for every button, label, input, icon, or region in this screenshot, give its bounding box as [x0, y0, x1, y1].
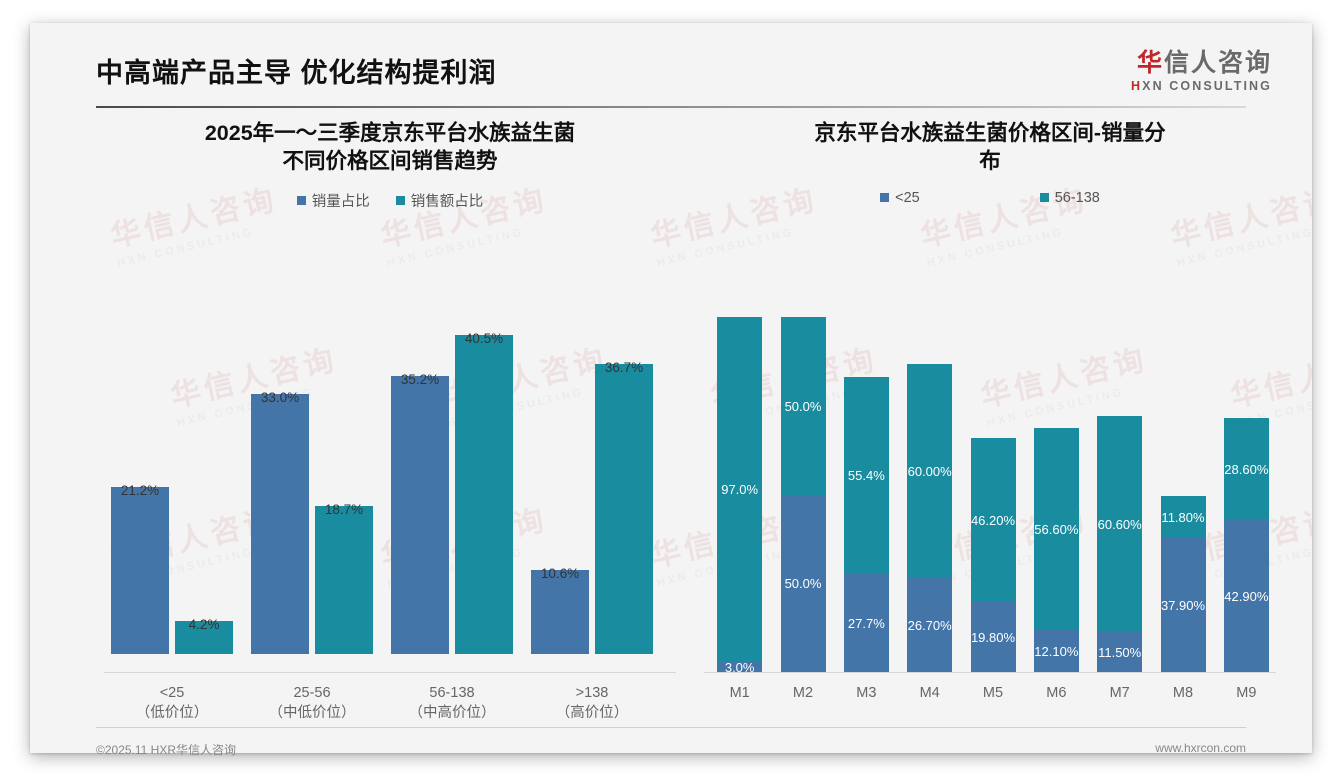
legend-swatch-blue [880, 193, 889, 202]
chart-right-title: 京东平台水族益生菌价格区间-销量分 布 [690, 119, 1290, 176]
logo-english-red: H [1131, 79, 1142, 93]
legend-item-sales-volume[interactable]: 销量占比 [297, 190, 370, 211]
bar-left->138-销售额占比[interactable] [595, 364, 653, 654]
x-tick-<25: <25（低价位） [102, 684, 242, 723]
stack-segment-label: 11.80% [1161, 510, 1204, 525]
chart-right-price-distribution: 京东平台水族益生菌价格区间-销量分 布 <25 56-138 3.0%97.0%… [690, 119, 1290, 689]
x-tick->138: >138（高价位） [522, 684, 662, 723]
legend-label-sales-volume: 销量占比 [312, 190, 370, 211]
stack-segment-label: 11.50% [1098, 645, 1141, 660]
stack-segment-label: 46.20% [971, 513, 1015, 528]
page-title: 中高端产品主导 优化结构提利润 [96, 51, 497, 90]
footer-divider [96, 727, 1246, 728]
stack-segment-label: 27.7% [848, 616, 885, 631]
stacked-bar-M2[interactable]: 50.0%50.0% [781, 317, 826, 672]
bar-value-label: 36.7% [595, 360, 653, 375]
logo-english-rest: XN CONSULTING [1142, 79, 1272, 93]
slide-header: 中高端产品主导 优化结构提利润 华信人咨询 HXN CONSULTING [30, 23, 1312, 107]
legend-label-sales-amount: 销售额占比 [411, 190, 484, 211]
stack-segment-label: 3.0% [725, 660, 755, 675]
x-tick-M7: M7 [1088, 684, 1151, 704]
bar-left-25-56-销量占比[interactable] [251, 394, 309, 654]
bar-value-label: 35.2% [391, 372, 449, 387]
bar-value-label: 40.5% [455, 331, 513, 346]
legend-swatch-teal [1040, 193, 1049, 202]
stacked-bar-M4[interactable]: 26.70%60.00% [907, 364, 952, 672]
stack-segment-label: 26.70% [908, 618, 952, 633]
stack-segment-label: 50.0% [785, 399, 822, 414]
bar-value-label: 21.2% [111, 483, 169, 498]
stacked-bar-M6[interactable]: 12.10%56.60% [1034, 428, 1079, 672]
stacked-bar-M7[interactable]: 11.50%60.60% [1097, 416, 1142, 672]
stack-segment-label: 37.90% [1161, 598, 1205, 613]
stack-segment-label: 56.60% [1034, 522, 1078, 537]
x-tick-M1: M1 [708, 684, 771, 704]
x-tick-M3: M3 [835, 684, 898, 704]
stacked-bar-M1[interactable]: 3.0%97.0% [717, 317, 762, 672]
logo-chinese-red: 华 [1137, 49, 1164, 77]
legend-swatch-blue [297, 196, 306, 205]
header-divider [96, 106, 1246, 108]
stack-segment-label: 50.0% [785, 576, 822, 591]
bar-left->138-销量占比[interactable] [531, 570, 589, 654]
company-logo: 华信人咨询 HXN CONSULTING [1131, 50, 1272, 93]
bar-value-label: 18.7% [315, 502, 373, 517]
x-tick-56-138: 56-138（中高价位） [382, 684, 522, 723]
slide-canvas: 华信人咨询HXN CONSULTING华信人咨询HXN CONSULTING华信… [30, 23, 1312, 753]
x-tick-M9: M9 [1215, 684, 1278, 704]
bar-value-label: 33.0% [251, 390, 309, 405]
stacked-bar-M8[interactable]: 37.90%11.80% [1161, 496, 1206, 672]
bar-value-label: 10.6% [531, 566, 589, 581]
stacked-bar-M9[interactable]: 42.90%28.60% [1224, 418, 1269, 672]
chart-left-title-line1: 2025年一～三季度京东平台水族益生菌 [114, 119, 666, 147]
chart-left-x-axis [104, 672, 676, 673]
stack-segment-label: 42.90% [1224, 589, 1268, 604]
stack-segment-label: 28.60% [1224, 462, 1268, 477]
chart-right-plot-area: 3.0%97.0%M150.0%50.0%M227.7%55.4%M326.70… [690, 251, 1290, 689]
bar-left-<25-销量占比[interactable] [111, 487, 169, 654]
stack-segment-label: 97.0% [721, 482, 758, 497]
legend-label-56-138: 56-138 [1055, 190, 1100, 206]
chart-left-title-line2: 不同价格区间销售趋势 [114, 147, 666, 175]
stack-segment-label: 12.10% [1034, 644, 1078, 659]
x-tick-M8: M8 [1151, 684, 1214, 704]
bar-value-label: 4.2% [175, 617, 233, 632]
logo-english: HXN CONSULTING [1131, 79, 1272, 93]
chart-left-plot-area: 21.2%4.2%<25（低价位）33.0%18.7%25-56（中低价位）35… [90, 269, 690, 689]
footer-copyright: ©2025.11 HXR华信人咨询 [96, 741, 236, 758]
stacked-bar-M3[interactable]: 27.7%55.4% [844, 377, 889, 672]
bar-left-56-138-销量占比[interactable] [391, 376, 449, 654]
logo-chinese-rest: 信人咨询 [1164, 49, 1272, 77]
chart-right-title-line1: 京东平台水族益生菌价格区间-销量分 [714, 119, 1266, 147]
legend-label-under-25: <25 [895, 190, 920, 206]
x-tick-M2: M2 [771, 684, 834, 704]
chart-right-x-axis [704, 672, 1276, 673]
footer-website: www.hxrcon.com [1155, 741, 1246, 755]
legend-swatch-teal [396, 196, 405, 205]
chart-left-title: 2025年一～三季度京东平台水族益生菌 不同价格区间销售趋势 [90, 119, 690, 176]
chart-left-legend: 销量占比 销售额占比 [90, 190, 690, 211]
x-tick-M4: M4 [898, 684, 961, 704]
stack-segment-label: 19.80% [971, 630, 1015, 645]
chart-right-title-line2: 布 [714, 147, 1266, 175]
x-tick-M6: M6 [1025, 684, 1088, 704]
legend-item-under-25[interactable]: <25 [880, 190, 920, 206]
logo-chinese: 华信人咨询 [1131, 50, 1272, 76]
bar-left-56-138-销售额占比[interactable] [455, 335, 513, 655]
stack-segment-label: 60.60% [1098, 517, 1142, 532]
chart-left-sales-trend: 2025年一～三季度京东平台水族益生菌 不同价格区间销售趋势 销量占比 销售额占… [90, 119, 690, 689]
stacked-bar-M5[interactable]: 19.80%46.20% [971, 438, 1016, 672]
legend-item-sales-amount[interactable]: 销售额占比 [396, 190, 484, 211]
stack-segment-label: 55.4% [848, 468, 885, 483]
x-tick-25-56: 25-56（中低价位） [242, 684, 382, 723]
bar-left-25-56-销售额占比[interactable] [315, 506, 373, 654]
legend-item-56-138[interactable]: 56-138 [1040, 190, 1100, 206]
stack-segment-label: 60.00% [908, 464, 952, 479]
chart-right-legend: <25 56-138 [690, 190, 1290, 206]
x-tick-M5: M5 [961, 684, 1024, 704]
